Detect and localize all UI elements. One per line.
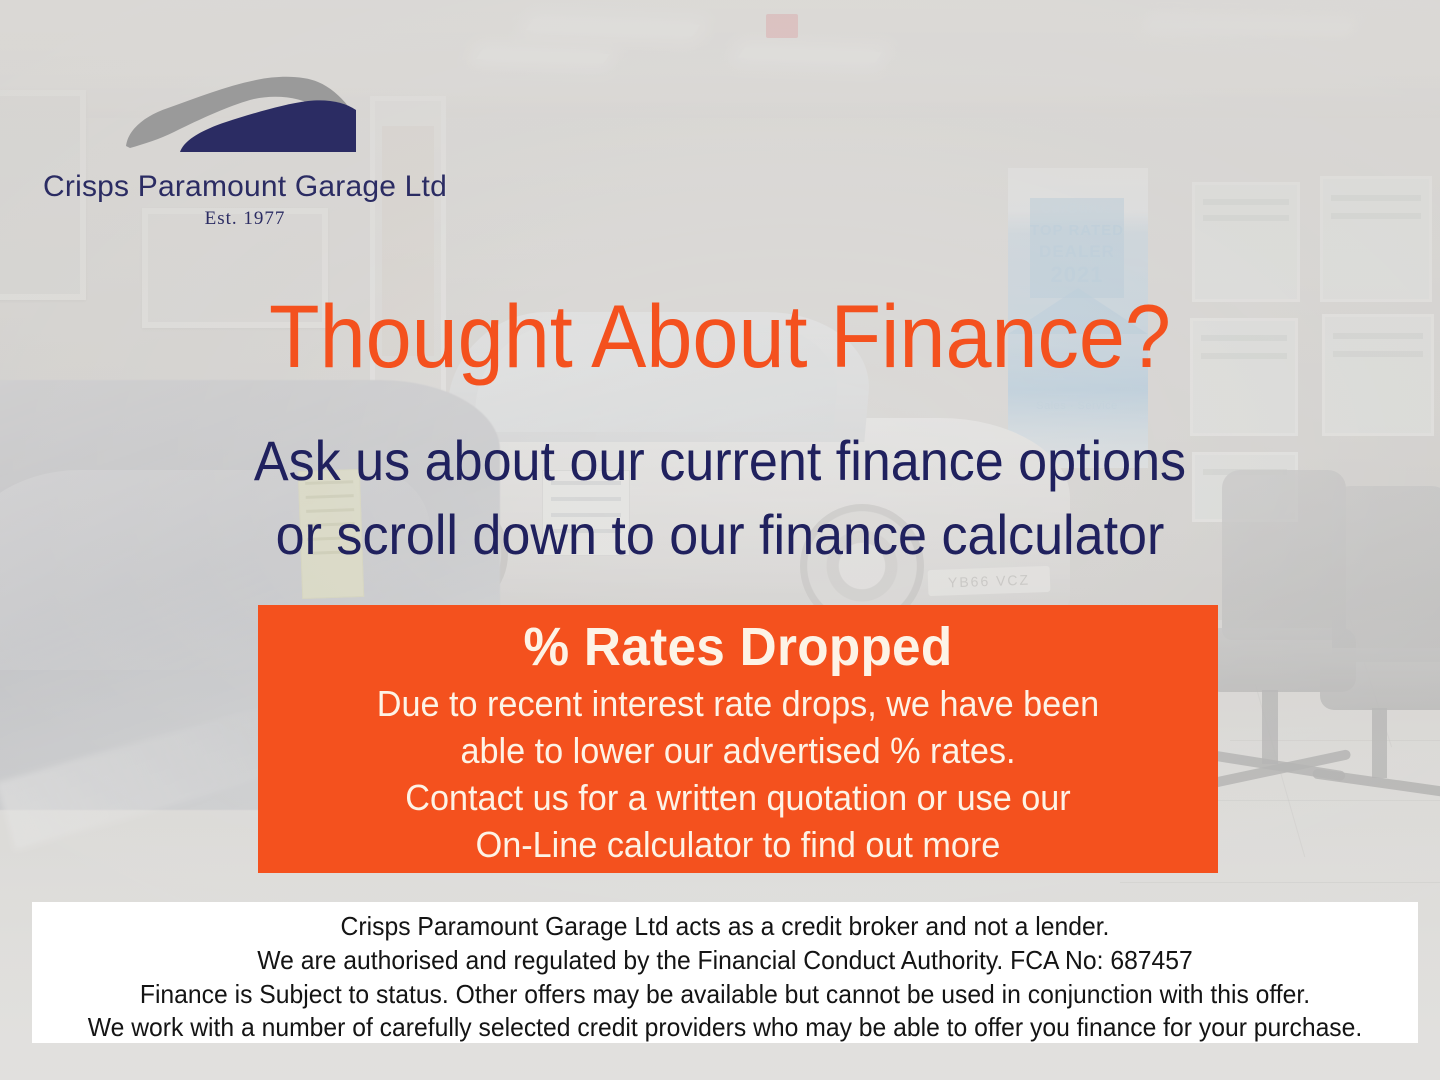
promo-body: Due to recent interest rate drops, we ha… [282,681,1194,868]
poster-content: Crisps Paramount Garage Ltd Est. 1977 Th… [0,0,1440,1080]
promo-line-1: Due to recent interest rate drops, we ha… [282,681,1194,728]
brand-logo-block: Crisps Paramount Garage Ltd Est. 1977 [30,72,460,230]
promo-line-4: On-Line calculator to find out more [282,822,1194,869]
car-silhouette-icon [122,72,362,168]
promo-line-2: able to lower our advertised % rates. [282,728,1194,775]
promo-line-3: Contact us for a written quotation or us… [282,775,1194,822]
subheading-line-1: Ask us about our current finance options [50,424,1389,498]
promo-panel: % Rates Dropped Due to recent interest r… [258,605,1218,873]
legal-disclaimer-panel: Crisps Paramount Garage Ltd acts as a cr… [32,902,1418,1043]
disclaimer-line-2: We are authorised and regulated by the F… [67,944,1384,978]
promo-title: % Rates Dropped [282,617,1194,677]
disclaimer-line-3: Finance is Subject to status. Other offe… [67,978,1384,1012]
page-title: Thought About Finance? [50,292,1389,381]
disclaimer-line-1: Crisps Paramount Garage Ltd acts as a cr… [67,910,1384,944]
brand-established: Est. 1977 [30,208,460,230]
disclaimer-line-4: We work with a number of carefully selec… [67,1011,1384,1045]
subheading: Ask us about our current finance options… [50,424,1389,572]
brand-name: Crisps Paramount Garage Ltd [30,170,460,204]
subheading-line-2: or scroll down to our finance calculator [50,498,1389,572]
poster-canvas: CarGurus TOP RATED DEALER 2021 Sales · S… [0,0,1440,1080]
